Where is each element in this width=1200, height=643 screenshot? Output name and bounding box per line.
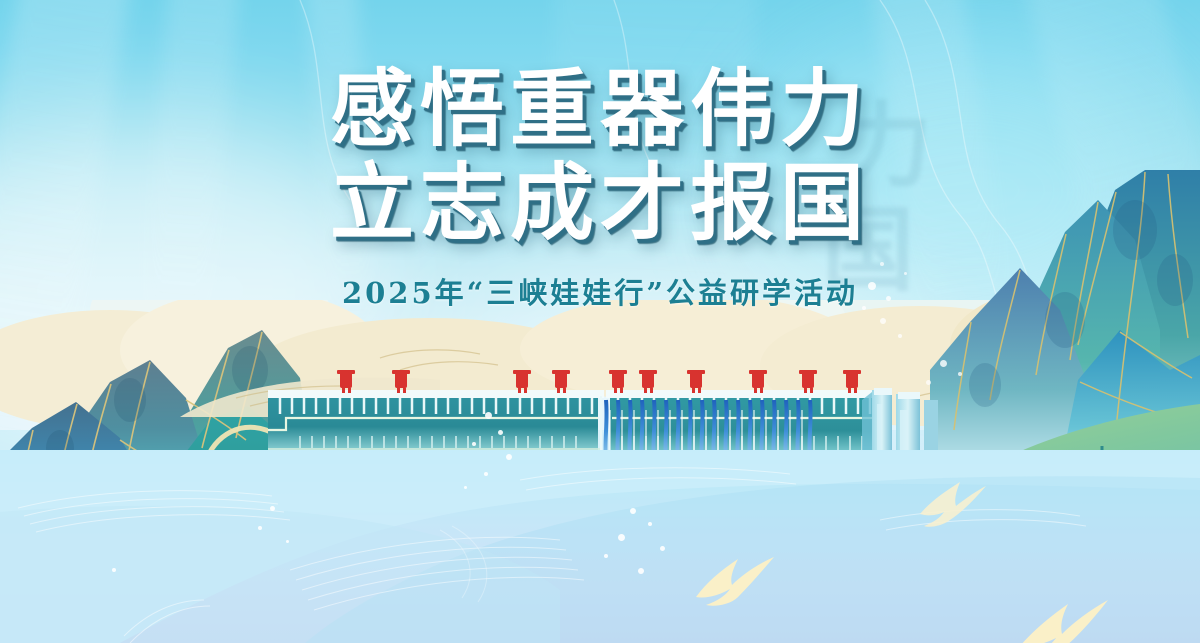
bubble — [270, 506, 275, 511]
swallow-bird — [1012, 588, 1112, 643]
swallow-bird — [690, 545, 780, 615]
bubble — [464, 486, 467, 489]
event-subtitle: 2025年“三峡娃娃行”公益研学活动 — [0, 270, 1200, 312]
bubble — [604, 554, 608, 558]
dam-gantry-crane — [337, 370, 861, 393]
sky-bubble — [958, 372, 962, 376]
bubble — [648, 522, 652, 526]
dam-right-section — [606, 390, 882, 454]
swallow-bird — [916, 476, 986, 532]
sky-bubble — [880, 318, 886, 324]
bubble — [472, 442, 476, 446]
dam-left-section — [268, 390, 604, 452]
bubble — [485, 412, 492, 419]
bubble — [286, 540, 289, 543]
bubble — [660, 546, 665, 551]
sky-bubble — [940, 360, 947, 367]
bubble — [618, 534, 625, 541]
bubble — [498, 430, 503, 435]
bubble — [506, 454, 512, 460]
bubble — [638, 568, 644, 574]
bubble — [258, 526, 262, 530]
title-block: 感悟重器伟力 立志成才报国 2025年“三峡娃娃行”公益研学活动 — [0, 62, 1200, 312]
sky-bubble — [898, 334, 902, 338]
title-line-1: 感悟重器伟力 — [0, 62, 1200, 156]
poster-canvas: 力 国 — [0, 0, 1200, 643]
bubble — [630, 508, 636, 514]
bubble — [484, 472, 488, 476]
bubble — [112, 568, 116, 572]
title-line-2: 立志成才报国 — [0, 156, 1200, 250]
sky-bubble — [926, 380, 931, 385]
